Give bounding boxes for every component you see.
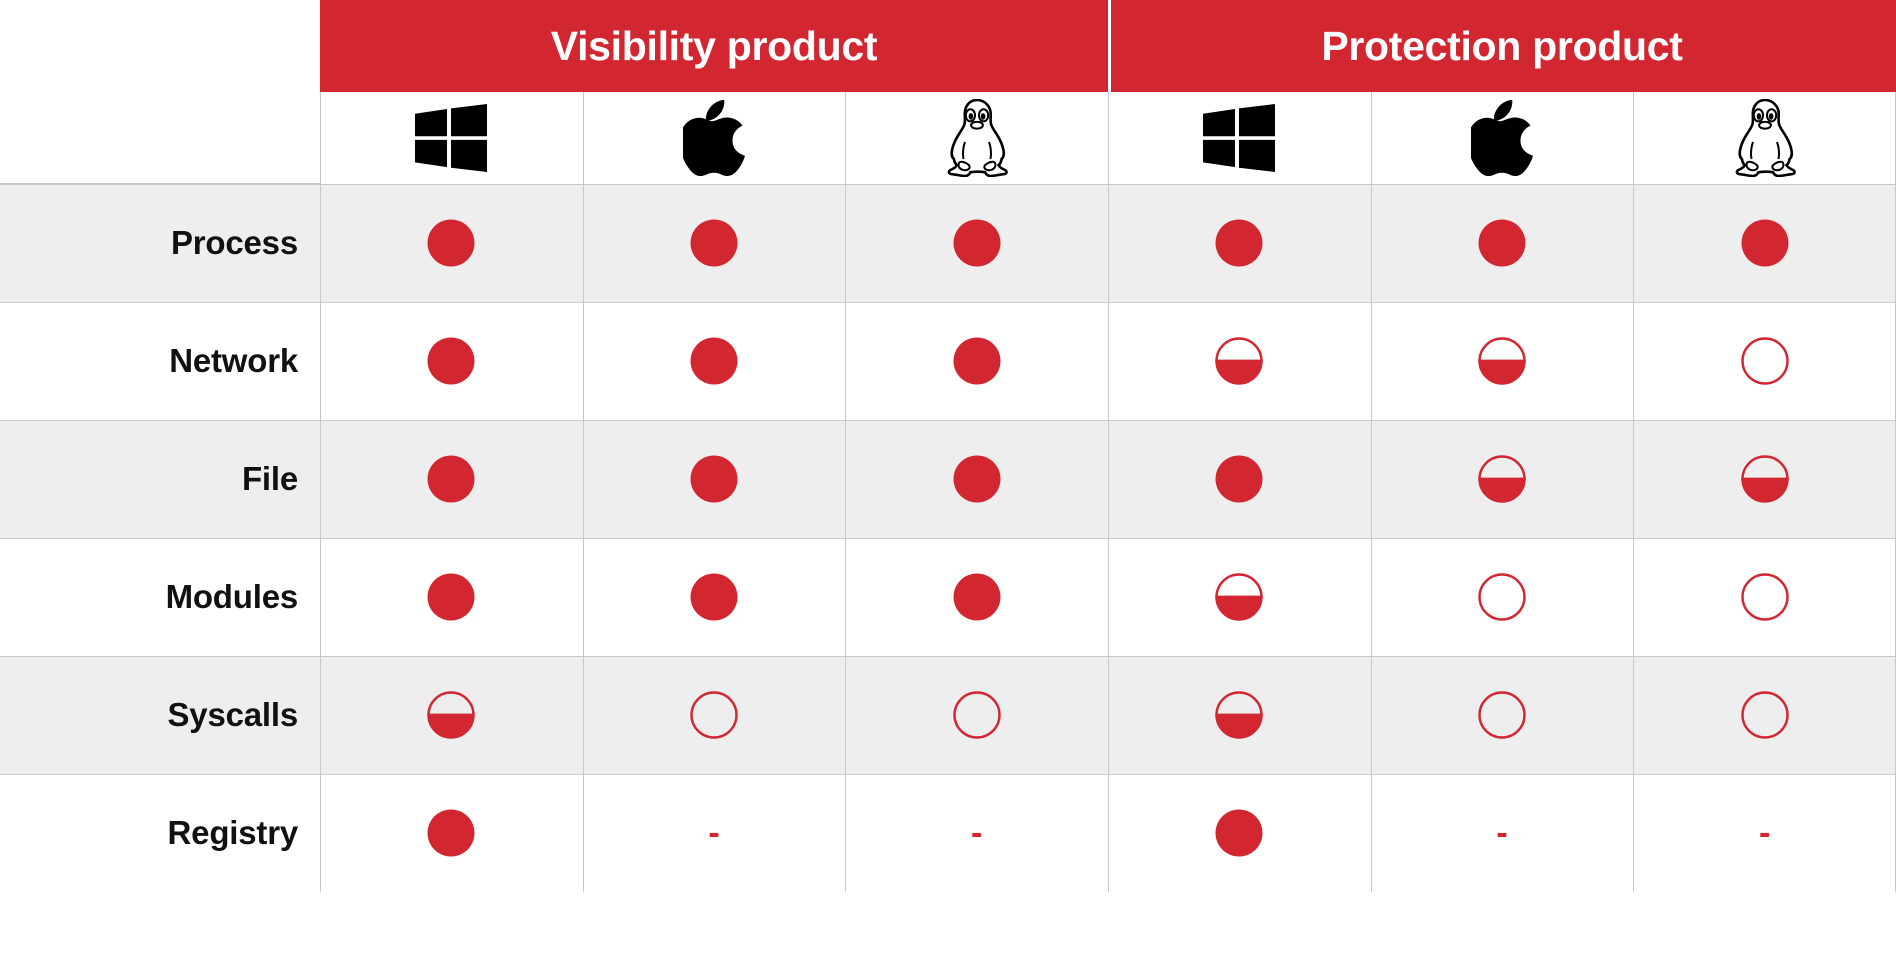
os-header-apple-icon-4 xyxy=(1371,92,1634,184)
linux-tux-icon xyxy=(945,99,1009,177)
matrix-cell-file-linux-protection xyxy=(1633,420,1896,538)
matrix-cell-process-linux-protection xyxy=(1633,184,1896,302)
indicator-full-circle xyxy=(951,453,1003,505)
indicator-full-circle xyxy=(951,335,1003,387)
matrix-cell-process-macos-protection xyxy=(1371,184,1634,302)
row-label-registry: Registry xyxy=(0,774,320,892)
matrix-cell-registry-linux-visibility: - xyxy=(845,774,1108,892)
apple-icon xyxy=(1471,100,1533,176)
apple-icon xyxy=(683,100,745,176)
indicator-full-circle xyxy=(1213,807,1265,859)
matrix-cell-registry-windows-protection xyxy=(1108,774,1371,892)
matrix-cell-file-linux-visibility xyxy=(845,420,1108,538)
row-label-network: Network xyxy=(0,302,320,420)
matrix-cell-modules-macos-visibility xyxy=(583,538,846,656)
matrix-cell-registry-linux-protection: - xyxy=(1633,774,1896,892)
indicator-empty-circle xyxy=(1739,689,1791,741)
matrix-cell-network-macos-visibility xyxy=(583,302,846,420)
indicator-full-circle xyxy=(951,217,1003,269)
indicator-empty-circle xyxy=(688,689,740,741)
indicator-full-circle xyxy=(425,217,477,269)
indicator-full-circle xyxy=(425,807,477,859)
matrix-cell-file-macos-protection xyxy=(1371,420,1634,538)
row-label-text: File xyxy=(242,460,298,498)
apple-icon-glyph xyxy=(1471,100,1533,176)
indicator-full-circle xyxy=(425,571,477,623)
indicator-half-circle xyxy=(1476,453,1528,505)
matrix-cell-syscalls-windows-protection xyxy=(1108,656,1371,774)
matrix-cell-registry-macos-visibility: - xyxy=(583,774,846,892)
indicator-empty-circle xyxy=(1739,335,1791,387)
indicator-full-circle xyxy=(425,453,477,505)
matrix-cell-process-macos-visibility xyxy=(583,184,846,302)
matrix-cell-file-macos-visibility xyxy=(583,420,846,538)
matrix-cell-modules-linux-protection xyxy=(1633,538,1896,656)
matrix-cell-modules-windows-visibility xyxy=(320,538,583,656)
indicator-full-circle xyxy=(688,453,740,505)
matrix-cell-registry-windows-visibility xyxy=(320,774,583,892)
windows-icon-glyph xyxy=(415,104,487,172)
matrix-cell-modules-macos-protection xyxy=(1371,538,1634,656)
row-label-file: File xyxy=(0,420,320,538)
row-label-syscalls: Syscalls xyxy=(0,656,320,774)
row-label-process: Process xyxy=(0,184,320,302)
matrix-cell-network-linux-visibility xyxy=(845,302,1108,420)
matrix-cell-process-windows-protection xyxy=(1108,184,1371,302)
os-header-windows-icon-0 xyxy=(320,92,583,184)
row-label-text: Modules xyxy=(166,578,298,616)
row-label-modules: Modules xyxy=(0,538,320,656)
indicator-empty-circle xyxy=(1476,689,1528,741)
windows-icon-glyph xyxy=(1203,104,1275,172)
linux-tux-icon xyxy=(1733,99,1797,177)
indicator-half-circle xyxy=(1476,335,1528,387)
table-corner-blank xyxy=(0,0,320,92)
linux-tux-icon-glyph xyxy=(945,99,1009,177)
group-header-protection: Protection product xyxy=(1108,0,1896,92)
matrix-cell-registry-macos-protection: - xyxy=(1371,774,1634,892)
group-divider xyxy=(1108,0,1111,92)
os-header-windows-icon-3 xyxy=(1108,92,1371,184)
matrix-cell-network-windows-protection xyxy=(1108,302,1371,420)
matrix-cell-syscalls-macos-visibility xyxy=(583,656,846,774)
matrix-cell-process-linux-visibility xyxy=(845,184,1108,302)
os-header-apple-icon-1 xyxy=(583,92,846,184)
group-header-label: Visibility product xyxy=(551,23,877,70)
indicator-full-circle xyxy=(688,571,740,623)
row-label-text: Registry xyxy=(168,814,298,852)
indicator-half-circle xyxy=(1213,689,1265,741)
group-header-label: Protection product xyxy=(1321,23,1682,70)
matrix-cell-modules-windows-protection xyxy=(1108,538,1371,656)
table-corner-blank-lower xyxy=(0,92,320,184)
matrix-cell-process-windows-visibility xyxy=(320,184,583,302)
indicator-half-circle xyxy=(1213,335,1265,387)
row-label-text: Network xyxy=(169,342,298,380)
indicator-full-circle xyxy=(1739,217,1791,269)
group-header-visibility: Visibility product xyxy=(320,0,1108,92)
matrix-cell-syscalls-windows-visibility xyxy=(320,656,583,774)
capability-matrix-table: Visibility product Protection product xyxy=(0,0,1896,955)
indicator-half-circle xyxy=(425,689,477,741)
matrix-cell-syscalls-linux-protection xyxy=(1633,656,1896,774)
matrix-cell-syscalls-macos-protection xyxy=(1371,656,1634,774)
indicator-full-circle xyxy=(688,335,740,387)
matrix-cell-syscalls-linux-visibility xyxy=(845,656,1108,774)
apple-icon-glyph xyxy=(683,100,745,176)
indicator-half-circle xyxy=(1213,571,1265,623)
indicator-dash: - xyxy=(1496,816,1507,850)
indicator-full-circle xyxy=(1476,217,1528,269)
os-header-linux-tux-icon-5 xyxy=(1633,92,1896,184)
indicator-dash: - xyxy=(1759,816,1770,850)
indicator-full-circle xyxy=(1213,217,1265,269)
windows-icon xyxy=(415,104,487,172)
matrix-cell-file-windows-visibility xyxy=(320,420,583,538)
indicator-full-circle xyxy=(951,571,1003,623)
matrix-cell-file-windows-protection xyxy=(1108,420,1371,538)
indicator-dash: - xyxy=(708,816,719,850)
indicator-empty-circle xyxy=(951,689,1003,741)
linux-tux-icon-glyph xyxy=(1733,99,1797,177)
windows-icon xyxy=(1203,104,1275,172)
indicator-dash: - xyxy=(971,816,982,850)
row-label-text: Syscalls xyxy=(167,696,298,734)
indicator-half-circle xyxy=(1739,453,1791,505)
matrix-cell-network-macos-protection xyxy=(1371,302,1634,420)
indicator-empty-circle xyxy=(1476,571,1528,623)
row-label-text: Process xyxy=(171,224,298,262)
matrix-cell-modules-linux-visibility xyxy=(845,538,1108,656)
os-header-linux-tux-icon-2 xyxy=(845,92,1108,184)
matrix-cell-network-windows-visibility xyxy=(320,302,583,420)
indicator-full-circle xyxy=(688,217,740,269)
indicator-full-circle xyxy=(425,335,477,387)
indicator-full-circle xyxy=(1213,453,1265,505)
indicator-empty-circle xyxy=(1739,571,1791,623)
matrix-cell-network-linux-protection xyxy=(1633,302,1896,420)
